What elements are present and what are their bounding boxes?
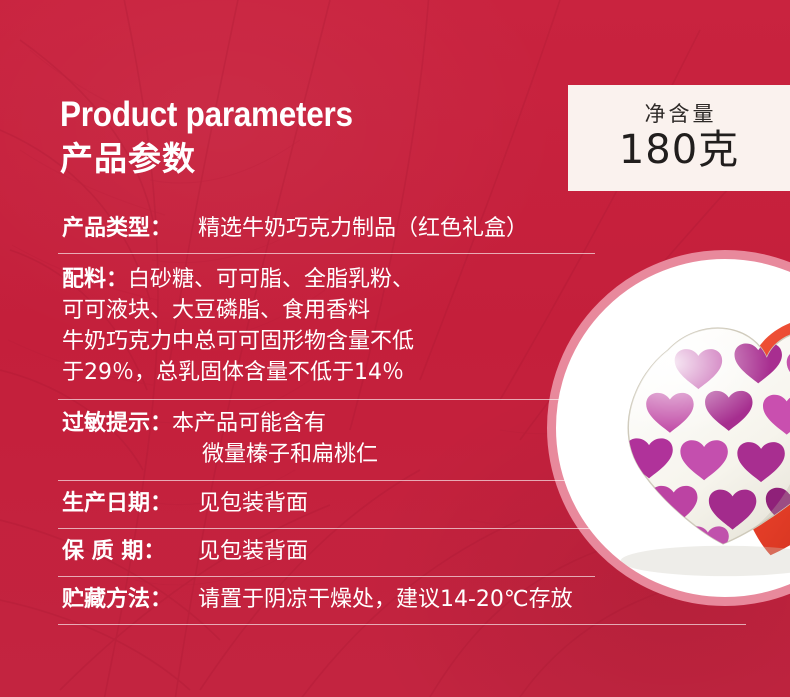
row-storage: 贮藏方法： 请置于阴凉干燥处，建议14-20℃存放: [58, 577, 598, 624]
product-type-label: 产品类型：: [62, 214, 198, 244]
row-allergen: 过敏提示：本产品可能含有 微量榛子和扁桃仁: [58, 400, 598, 480]
net-weight-value: 180克: [619, 127, 739, 173]
production-date-label: 生产日期：: [62, 489, 198, 519]
product-parameters-page: Product parameters 产品参数 净含量 180克: [0, 0, 790, 697]
ingredients-line-4: 于29％，总乳固体含量不低于14％: [62, 357, 598, 388]
product-type-value: 精选牛奶巧克力制品（红色礼盒）: [198, 214, 528, 244]
row-production-date: 生产日期： 见包装背面: [58, 481, 598, 528]
storage-value: 请置于阴凉干燥处，建议14-20℃存放: [198, 585, 573, 615]
ingredients-label: 配料：: [62, 267, 128, 292]
divider-6: [58, 624, 746, 625]
page-header: Product parameters 产品参数: [60, 96, 540, 180]
net-weight-badge: 净含量 180克: [568, 85, 790, 191]
page-title-en: Product parameters: [60, 96, 492, 134]
row-ingredients: 配料：白砂糖、可可脂、全脂乳粉、 可可液块、大豆磷脂、食用香料 牛奶巧克力中总可…: [58, 254, 598, 399]
ingredients-line-3: 牛奶巧克力中总可可固形物含量不低: [62, 326, 598, 357]
page-title-cn: 产品参数: [60, 138, 540, 180]
allergen-label: 过敏提示：: [62, 411, 172, 436]
row-shelf-life: 保 质 期： 见包装背面: [58, 529, 598, 576]
row-product-type: 产品类型： 精选牛奶巧克力制品（红色礼盒）: [58, 206, 598, 253]
production-date-value: 见包装背面: [198, 489, 308, 519]
storage-label: 贮藏方法：: [62, 585, 198, 615]
allergen-line-2: 微量榛子和扁桃仁: [62, 439, 598, 470]
ingredients-line-1: 配料：白砂糖、可可脂、全脂乳粉、: [62, 264, 598, 295]
ingredients-value-1: 白砂糖、可可脂、全脂乳粉、: [128, 267, 414, 292]
shelf-life-label: 保 质 期：: [62, 537, 198, 567]
net-weight-label: 净含量: [642, 102, 717, 126]
shelf-life-value: 见包装背面: [198, 537, 308, 567]
parameter-list: 产品类型： 精选牛奶巧克力制品（红色礼盒） 配料：白砂糖、可可脂、全脂乳粉、 可…: [58, 206, 598, 625]
allergen-line-1: 过敏提示：本产品可能含有: [62, 408, 598, 439]
ingredients-line-2: 可可液块、大豆磷脂、食用香料: [62, 295, 598, 326]
allergen-value-1: 本产品可能含有: [172, 411, 326, 436]
